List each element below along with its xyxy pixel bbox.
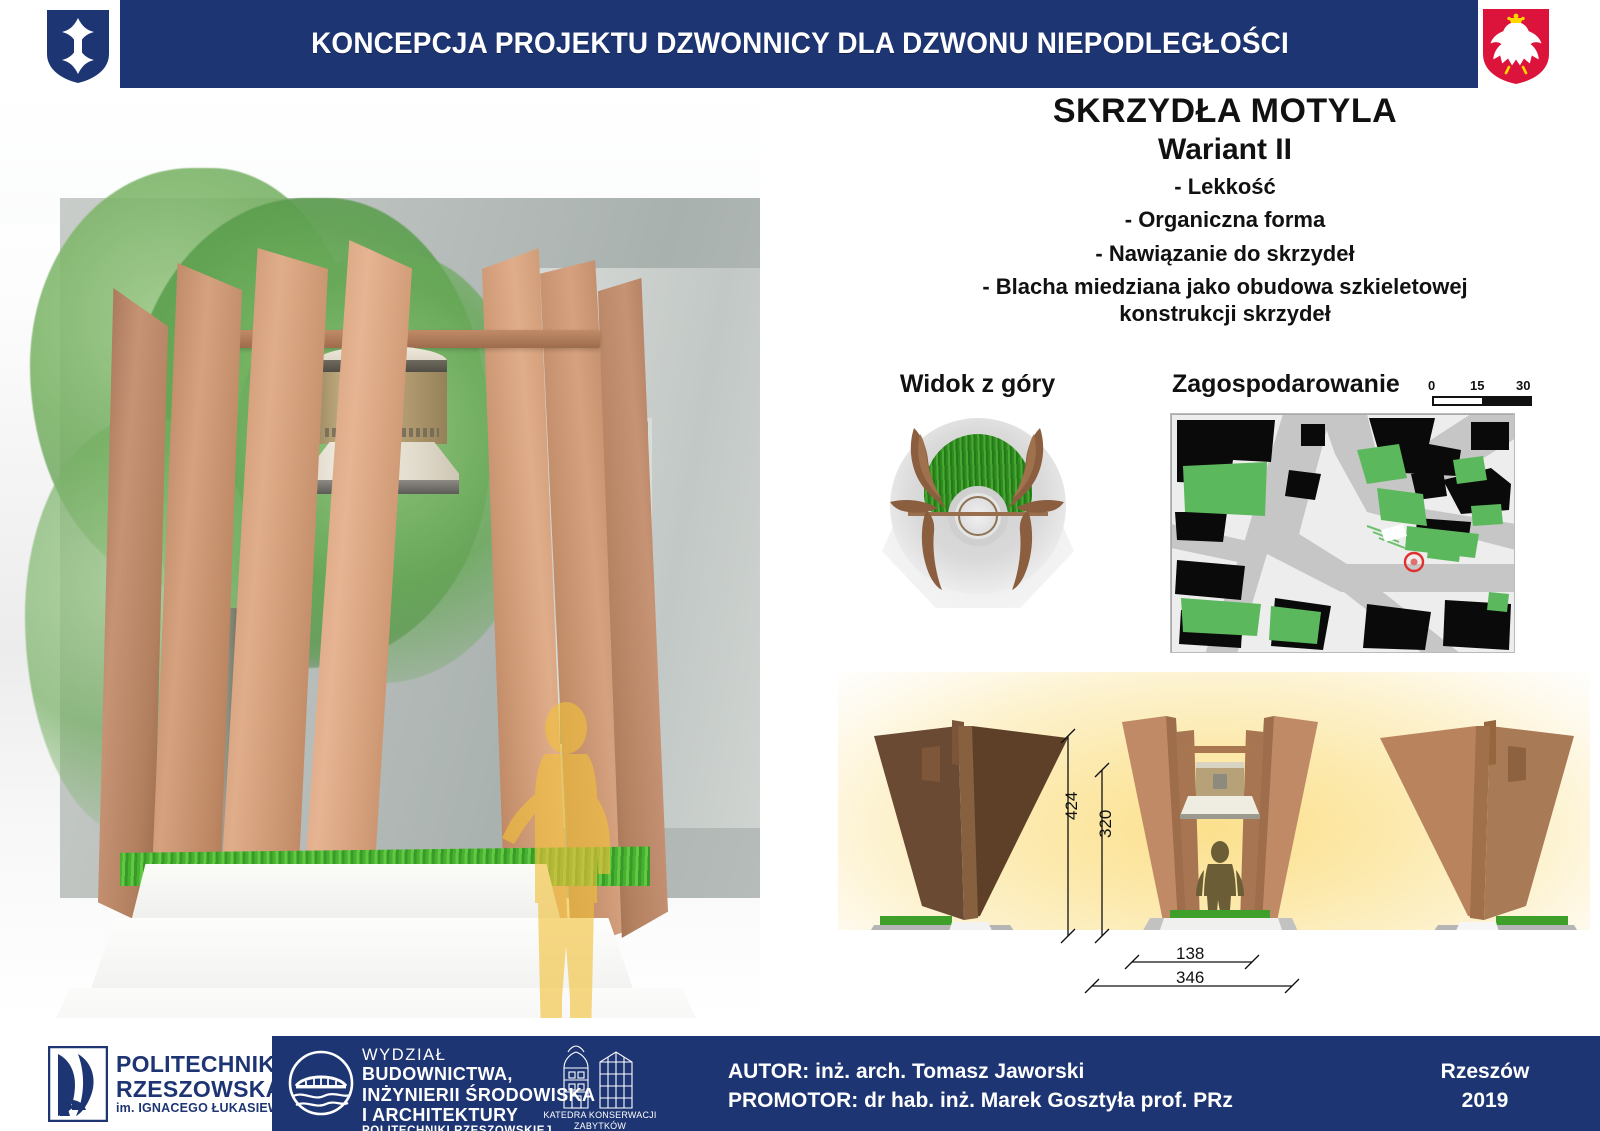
heritage-building-sketch-icon <box>556 1044 642 1110</box>
poster-canvas: KONCEPCJA PROJEKTU DZWONNICY DLA DZWONU … <box>0 0 1600 1131</box>
dimension-base-width: 346 <box>1176 968 1204 988</box>
site-plan-svg <box>1171 414 1515 653</box>
label-top-view: Widok z góry <box>870 370 1085 399</box>
department-line-1: KATEDRA KONSERWACJI <box>540 1110 660 1121</box>
page-footer: POLITECHNIKA RZESZOWSKA im. IGNACEGO ŁUK… <box>0 1022 1600 1131</box>
author-line: AUTOR: inż. arch. Tomasz Jaworski <box>728 1058 1233 1087</box>
department-line-2: ZABYTKÓW <box>540 1121 660 1131</box>
concept-bullet: - Lekkość <box>860 173 1590 200</box>
scale-tick-30: 30 <box>1516 378 1530 393</box>
vertical-dimension-lines <box>1042 722 1122 962</box>
university-name: POLITECHNIKA RZESZOWSKA im. IGNACEGO ŁUK… <box>116 1052 310 1115</box>
university-line-3: im. IGNACEGO ŁUKASIEWICZA <box>116 1102 310 1116</box>
university-line-1: POLITECHNIKA <box>116 1052 310 1077</box>
site-plan-map <box>1170 413 1515 653</box>
author-credits: AUTOR: inż. arch. Tomasz Jaworski PROMOT… <box>728 1058 1233 1116</box>
page-title: KONCEPCJA PROJEKTU DZWONNICY DLA DZWONU … <box>177 0 1423 88</box>
main-render-visualization <box>0 88 760 1018</box>
concept-variant: Wariant II <box>860 133 1590 167</box>
dimension-total-height: 424 <box>1062 792 1082 820</box>
side-elevation-right <box>1358 720 1588 950</box>
department-name: KATEDRA KONSERWACJI ZABYTKÓW <box>540 1110 660 1131</box>
university-line-2: RZESZOWSKA <box>116 1077 310 1102</box>
map-scale-bar: 0 15 30 <box>1428 378 1544 412</box>
concept-title-block: SKRZYDŁA MOTYLA Wariant II - Lekkość - O… <box>860 92 1590 327</box>
top-view-diagram <box>872 408 1082 608</box>
promoter-line: PROMOTOR: dr hab. inż. Marek Gosztyła pr… <box>728 1087 1233 1116</box>
elevation-drawings-stage: 424 320 138 346 <box>838 672 1590 972</box>
dimension-inner-height: 320 <box>1096 810 1116 838</box>
dimension-inner-width: 138 <box>1176 944 1204 964</box>
human-scale-figure <box>500 698 630 1018</box>
year-label: 2019 <box>1430 1087 1540 1116</box>
front-elevation <box>1114 710 1326 956</box>
location-year: Rzeszów 2019 <box>1430 1058 1540 1116</box>
scale-tick-0: 0 <box>1428 378 1435 393</box>
faculty-bridge-logo-icon <box>288 1050 354 1116</box>
rzeszow-coat-of-arms-icon <box>40 4 116 88</box>
concept-bullet: - Nawiązanie do skrzydeł <box>860 240 1590 267</box>
concept-bullet: - Organiczna forma <box>860 206 1590 233</box>
concept-heading: SKRZYDŁA MOTYLA <box>860 92 1590 131</box>
top-view-butterfly-wings <box>872 416 1082 596</box>
politechnika-rzeszowska-logo-icon <box>48 1046 108 1122</box>
scale-seg <box>1482 398 1530 404</box>
label-site-plan: Zagospodarowanie <box>1172 370 1400 399</box>
polish-eagle-emblem-icon <box>1478 4 1554 88</box>
horizontal-dimension-lines <box>1084 948 1384 994</box>
scale-tick-15: 15 <box>1470 378 1484 393</box>
city-label: Rzeszów <box>1430 1058 1540 1087</box>
concept-bullet: - Blacha miedziana jako obudowa szkielet… <box>860 273 1590 300</box>
page-header: KONCEPCJA PROJEKTU DZWONNICY DLA DZWONU … <box>0 0 1600 88</box>
concept-bullet: konstrukcji skrzydeł <box>860 300 1590 327</box>
scale-bar-track <box>1432 396 1532 406</box>
scale-seg <box>1434 398 1482 404</box>
